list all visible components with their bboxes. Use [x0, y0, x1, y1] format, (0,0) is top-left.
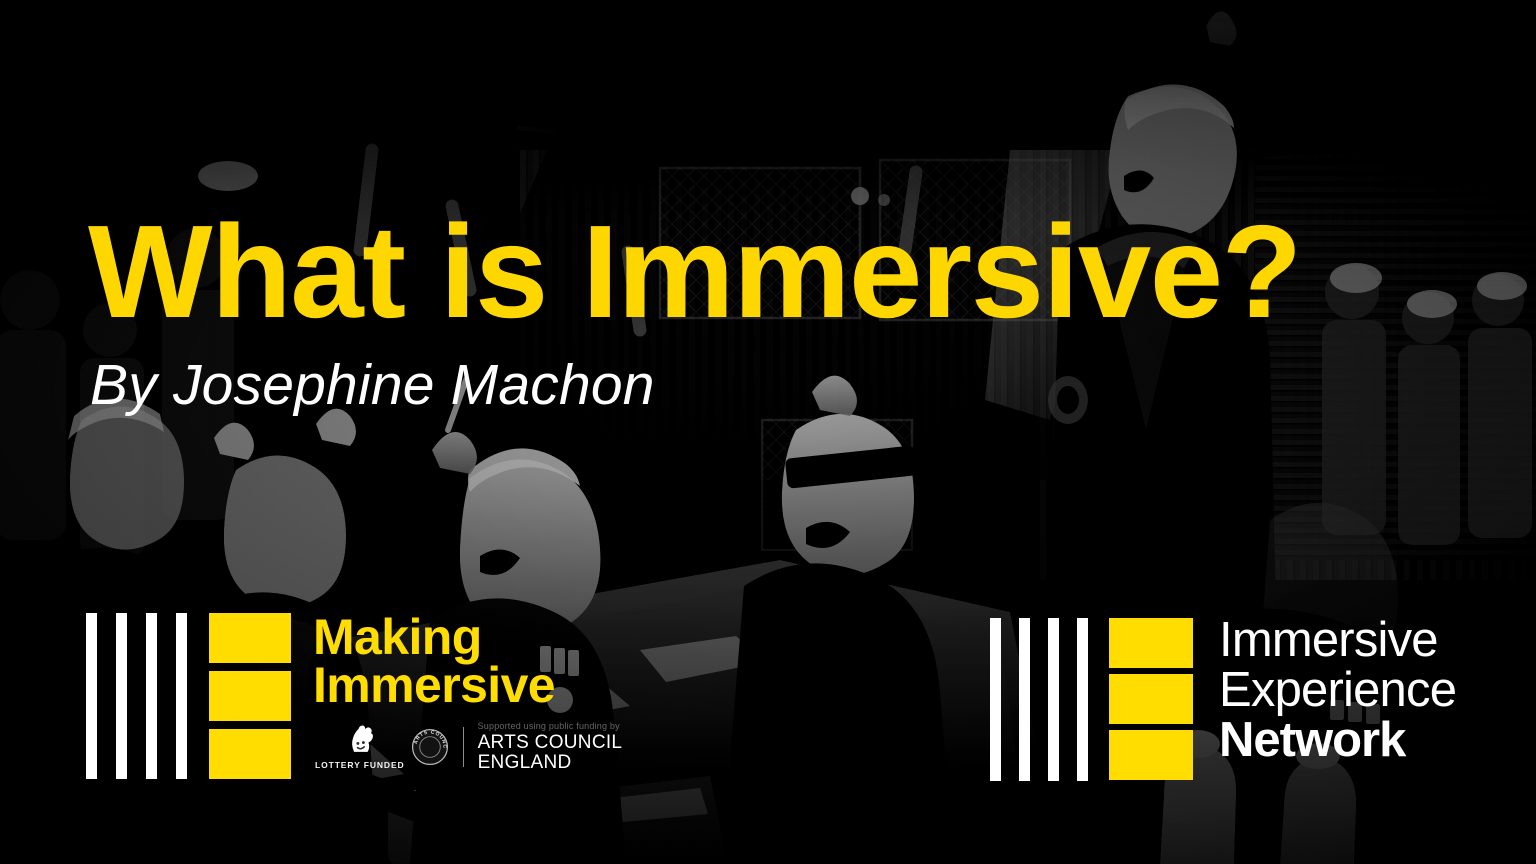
arts-council-text: Supported using public funding by ARTS C…: [478, 721, 623, 773]
arts-council-name-line-2: ENGLAND: [478, 753, 623, 773]
ien-line-3: Network: [1219, 716, 1456, 766]
making-immersive-line-2: Immersive: [313, 661, 622, 709]
arts-council-name-line-1: ARTS COUNCIL: [478, 733, 623, 753]
ien-mark-bar-4: [1077, 618, 1088, 781]
ien-line-1: Immersive: [1219, 616, 1456, 666]
mark-bar-4: [176, 613, 187, 779]
arts-council-strapline: Supported using public funding by: [478, 721, 623, 731]
author-byline: By Josephine Machon: [90, 356, 655, 416]
arts-council-england-logo: LOTTERY FUNDED ARTS COUNCIL Supported us…: [315, 721, 622, 773]
ien-wordmark: Immersive Experience Network: [1219, 616, 1456, 766]
ien-mark-bar-3: [1048, 618, 1059, 781]
mark-bar-3: [146, 613, 157, 779]
making-immersive-logo: Making Immersive LOTTERY FUNDED: [86, 613, 622, 779]
mark-bars: [86, 613, 187, 779]
mark-block-1: [209, 613, 291, 663]
mark-block-3: [209, 729, 291, 779]
ien-mark-bar-2: [1019, 618, 1030, 781]
lottery-funded-logo: LOTTERY FUNDED: [315, 723, 405, 770]
ien-mark-block-3: [1109, 730, 1193, 780]
ien-mark-bars: [990, 618, 1088, 781]
lottery-funded-label: LOTTERY FUNDED: [315, 760, 405, 770]
ien-mark-block-2: [1109, 674, 1193, 724]
presentation-slide: What is Immersive? By Josephine Machon M…: [0, 0, 1536, 864]
arts-council-roundel-icon: ARTS COUNCIL: [411, 728, 449, 766]
arts-council-divider: [463, 727, 464, 767]
making-immersive-line-1: Making: [313, 613, 622, 661]
immersive-experience-network-mark: [990, 618, 1193, 781]
mark-bar-2: [116, 613, 127, 779]
making-immersive-mark: [86, 613, 291, 779]
ien-mark-bar-1: [990, 618, 1001, 781]
ien-line-2: Experience: [1219, 666, 1456, 716]
mark-blocks: [209, 613, 291, 779]
mark-bar-1: [86, 613, 97, 779]
making-immersive-wordmark: Making Immersive LOTTERY FUNDED: [313, 613, 622, 773]
ien-mark-blocks: [1109, 618, 1193, 780]
ien-mark-block-1: [1109, 618, 1193, 668]
page-title: What is Immersive?: [88, 206, 1301, 338]
lottery-crossed-fingers-icon: [343, 723, 377, 757]
immersive-experience-network-logo: Immersive Experience Network: [990, 618, 1456, 781]
mark-block-2: [209, 671, 291, 721]
